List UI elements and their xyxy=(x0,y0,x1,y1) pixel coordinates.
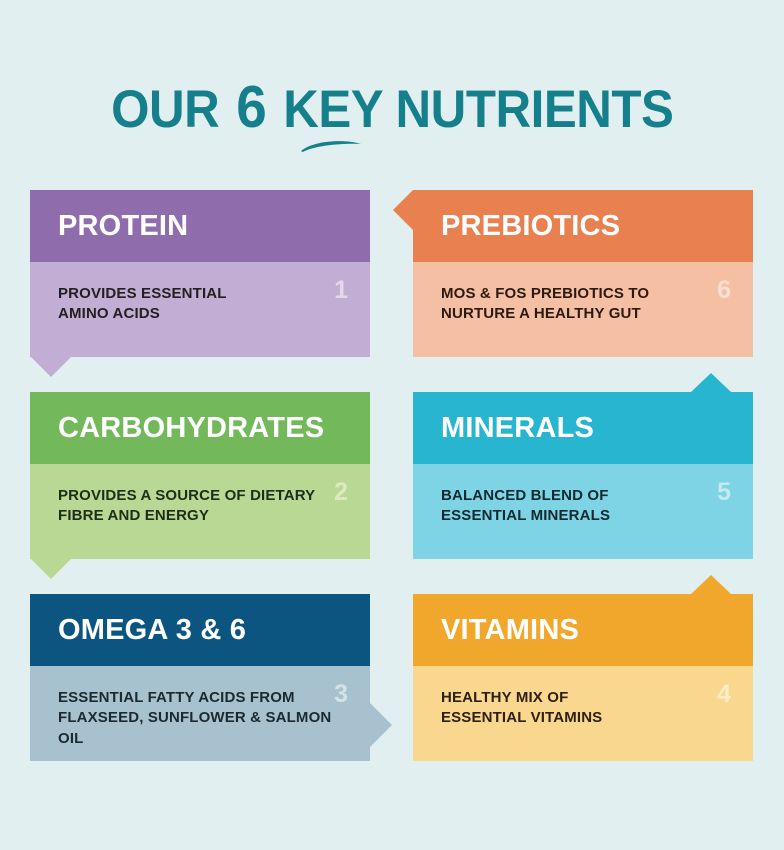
card-header-prebiotics: PREBIOTICS xyxy=(413,190,753,262)
card-body-protein: PROVIDES ESSENTIAL AMINO ACIDS 1 xyxy=(30,262,370,357)
card-title-carbohydrates: CARBOHYDRATES xyxy=(58,414,324,443)
nutrient-card-grid: PROTEIN PROVIDES ESSENTIAL AMINO ACIDS 1… xyxy=(0,0,784,850)
arrow-right-icon xyxy=(370,703,392,747)
card-number-vitamins: 4 xyxy=(717,682,731,707)
card-title-vitamins: VITAMINS xyxy=(441,616,579,645)
card-body-vitamins: HEALTHY MIX OF ESSENTIAL VITAMINS 4 xyxy=(413,666,753,761)
card-header-protein: PROTEIN xyxy=(30,190,370,262)
nutrient-card-carbohydrates[interactable]: CARBOHYDRATES PROVIDES A SOURCE OF DIETA… xyxy=(30,392,370,559)
card-header-vitamins: VITAMINS xyxy=(413,594,753,666)
nutrient-card-omega[interactable]: OMEGA 3 & 6 ESSENTIAL FATTY ACIDS FROM F… xyxy=(30,594,370,761)
card-header-minerals: MINERALS xyxy=(413,392,753,464)
card-body-prebiotics: MOS & FOS PREBIOTICS TO NURTURE A HEALTH… xyxy=(413,262,753,357)
card-header-carbohydrates: CARBOHYDRATES xyxy=(30,392,370,464)
card-number-minerals: 5 xyxy=(717,480,731,505)
card-number-carbohydrates: 2 xyxy=(334,480,348,505)
nutrient-card-vitamins[interactable]: VITAMINS HEALTHY MIX OF ESSENTIAL VITAMI… xyxy=(413,594,753,761)
nutrient-card-protein[interactable]: PROTEIN PROVIDES ESSENTIAL AMINO ACIDS 1 xyxy=(30,190,370,357)
card-description-carbohydrates: PROVIDES A SOURCE OF DIETARY FIBRE AND E… xyxy=(58,486,348,527)
card-description-omega: ESSENTIAL FATTY ACIDS FROM FLAXSEED, SUN… xyxy=(58,688,348,749)
card-number-omega: 3 xyxy=(334,682,348,707)
arrow-left-icon xyxy=(393,190,413,230)
card-body-minerals: BALANCED BLEND OF ESSENTIAL MINERALS 5 xyxy=(413,464,753,559)
nutrient-card-prebiotics[interactable]: PREBIOTICS MOS & FOS PREBIOTICS TO NURTU… xyxy=(413,190,753,357)
card-title-protein: PROTEIN xyxy=(58,212,188,241)
arrow-down-icon xyxy=(31,357,71,377)
card-description-protein: PROVIDES ESSENTIAL AMINO ACIDS xyxy=(58,284,348,325)
card-number-protein: 1 xyxy=(334,278,348,303)
card-description-minerals: BALANCED BLEND OF ESSENTIAL MINERALS xyxy=(441,486,731,527)
card-title-minerals: MINERALS xyxy=(441,414,594,443)
card-number-prebiotics: 6 xyxy=(717,278,731,303)
card-title-omega: OMEGA 3 & 6 xyxy=(58,616,246,645)
card-description-prebiotics: MOS & FOS PREBIOTICS TO NURTURE A HEALTH… xyxy=(441,284,731,325)
card-header-omega: OMEGA 3 & 6 xyxy=(30,594,370,666)
card-description-vitamins: HEALTHY MIX OF ESSENTIAL VITAMINS xyxy=(441,688,731,729)
nutrient-card-minerals[interactable]: MINERALS BALANCED BLEND OF ESSENTIAL MIN… xyxy=(413,392,753,559)
card-body-carbohydrates: PROVIDES A SOURCE OF DIETARY FIBRE AND E… xyxy=(30,464,370,559)
card-title-prebiotics: PREBIOTICS xyxy=(441,212,620,241)
arrow-up-icon xyxy=(691,373,731,392)
arrow-up-icon xyxy=(691,575,731,594)
arrow-down-icon xyxy=(31,559,71,579)
card-body-omega: ESSENTIAL FATTY ACIDS FROM FLAXSEED, SUN… xyxy=(30,666,370,761)
